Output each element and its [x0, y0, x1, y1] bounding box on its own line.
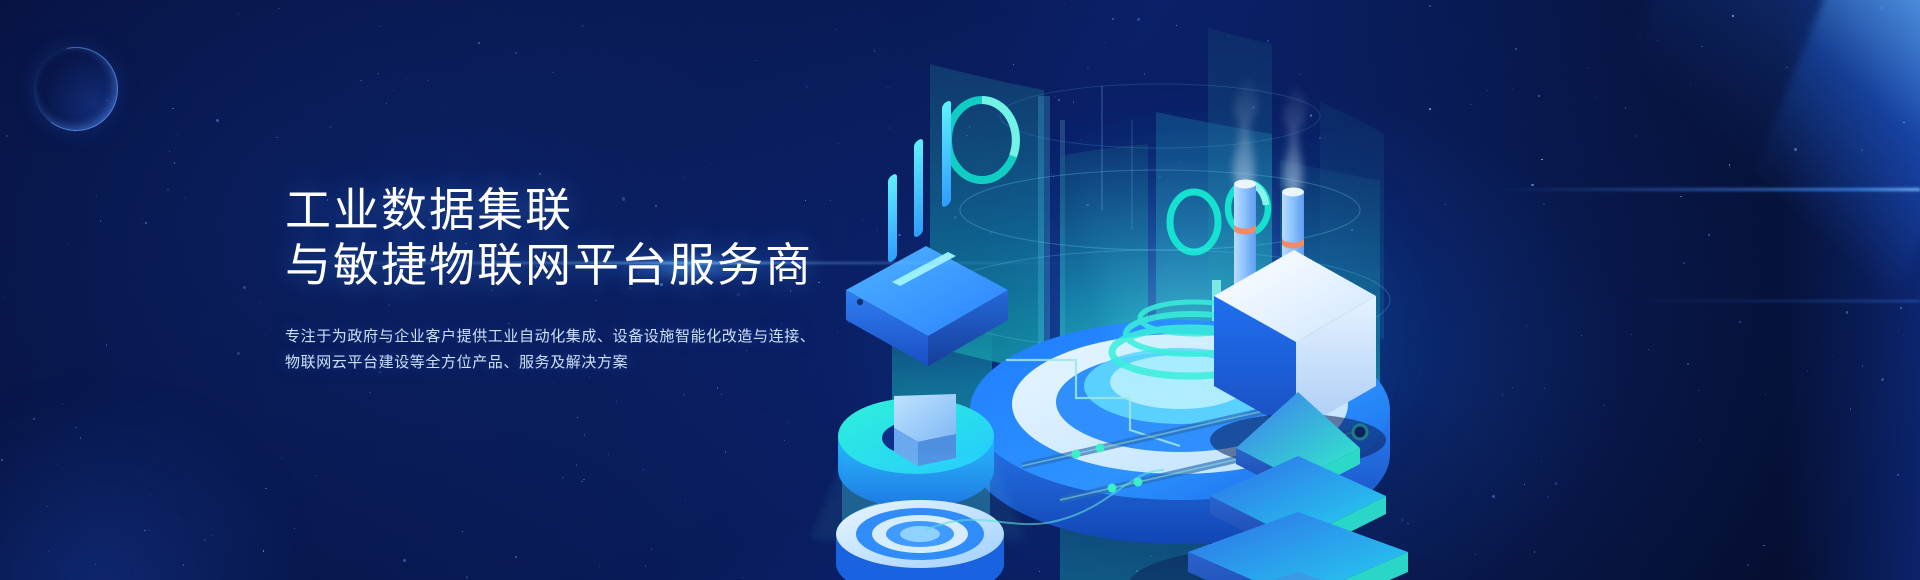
star: [184, 197, 185, 198]
star: [183, 564, 184, 565]
star: [75, 427, 76, 428]
star: [582, 25, 583, 26]
star: [414, 565, 415, 566]
star: [65, 457, 66, 458]
star: [6, 135, 7, 136]
star: [616, 401, 617, 402]
star: [212, 535, 213, 536]
star: [57, 464, 58, 465]
star: [583, 479, 584, 480]
star: [96, 196, 97, 197]
page-title: 工业数据集联 与敏捷物联网平台服务商: [285, 183, 815, 293]
router-port-dot: [857, 299, 863, 305]
star: [742, 577, 743, 578]
star: [645, 565, 646, 566]
star: [386, 103, 387, 104]
star: [379, 26, 380, 27]
star: [315, 475, 316, 476]
subcopy-line-2: 物联网云平台建设等全方位产品、服务及解决方案: [285, 350, 815, 376]
star: [174, 162, 175, 163]
headline-line-1: 工业数据集联: [285, 184, 573, 236]
hero-subcopy: 专注于为政府与企业客户提供工业自动化集成、设备设施智能化改造与连接、 物联网云平…: [285, 324, 815, 376]
star: [3, 297, 4, 298]
hero-banner: 工业数据集联 与敏捷物联网平台服务商 专注于为政府与企业客户提供工业自动化集成、…: [0, 0, 1920, 580]
star: [403, 559, 406, 562]
star: [243, 286, 246, 289]
star: [725, 451, 726, 452]
star: [618, 75, 619, 76]
star: [608, 454, 609, 455]
star: [145, 222, 146, 223]
star: [552, 72, 553, 73]
star: [95, 564, 96, 565]
star: [216, 119, 219, 122]
star: [149, 530, 150, 531]
star: [204, 539, 206, 541]
star: [237, 13, 238, 14]
star: [237, 352, 240, 355]
star: [576, 464, 577, 465]
star: [169, 151, 170, 152]
star: [515, 556, 517, 558]
star: [263, 550, 264, 551]
star: [150, 494, 151, 495]
headline-line-2: 与敏捷物联网平台服务商: [285, 238, 815, 293]
star: [62, 403, 63, 404]
hero-copy: 工业数据集联 与敏捷物联网平台服务商 专注于为政府与企业客户提供工业自动化集成、…: [285, 152, 815, 391]
star: [253, 139, 254, 140]
star: [106, 344, 107, 345]
star: [577, 417, 578, 418]
star: [144, 530, 145, 531]
star: [756, 60, 757, 61]
star: [393, 90, 394, 91]
star: [142, 218, 143, 219]
star: [80, 437, 81, 438]
star: [1, 459, 3, 461]
star: [584, 434, 585, 435]
star: [172, 108, 173, 109]
star: [581, 481, 582, 482]
star: [360, 80, 361, 81]
star: [599, 566, 600, 567]
star: [202, 334, 203, 335]
star: [276, 137, 277, 138]
star: [46, 506, 47, 507]
star: [683, 393, 685, 395]
star: [329, 126, 331, 128]
star: [562, 477, 563, 478]
star: [67, 244, 68, 245]
star: [466, 576, 468, 578]
star: [100, 220, 101, 221]
star: [427, 80, 428, 81]
star: [685, 499, 686, 500]
star: [643, 469, 644, 470]
subcopy-line-1: 专注于为政府与企业客户提供工业自动化集成、设备设施智能化改造与连接、: [285, 324, 815, 350]
crescent-moon-icon: [34, 47, 118, 131]
hero-illustration: [760, 0, 1920, 580]
star: [177, 134, 178, 135]
star: [721, 394, 722, 395]
star: [33, 418, 35, 420]
radar-disc: [836, 500, 1004, 580]
star: [369, 392, 370, 393]
smokestack-left-rim: [1234, 180, 1256, 189]
star: [294, 528, 295, 529]
star: [122, 165, 123, 166]
star: [377, 73, 378, 74]
star: [74, 131, 75, 132]
star: [278, 8, 279, 9]
star: [651, 548, 652, 549]
star: [271, 328, 272, 329]
star: [478, 42, 479, 43]
star: [462, 531, 463, 532]
star: [598, 455, 599, 456]
star: [445, 104, 446, 105]
star: [167, 189, 168, 190]
star: [405, 78, 406, 79]
star: [52, 46, 53, 47]
star: [515, 52, 517, 54]
star: [226, 351, 227, 352]
star: [281, 458, 282, 459]
smokestack-right-rim: [1282, 188, 1304, 197]
star: [265, 488, 266, 489]
star: [48, 551, 49, 552]
radar-center: [900, 526, 940, 542]
star: [260, 302, 261, 303]
